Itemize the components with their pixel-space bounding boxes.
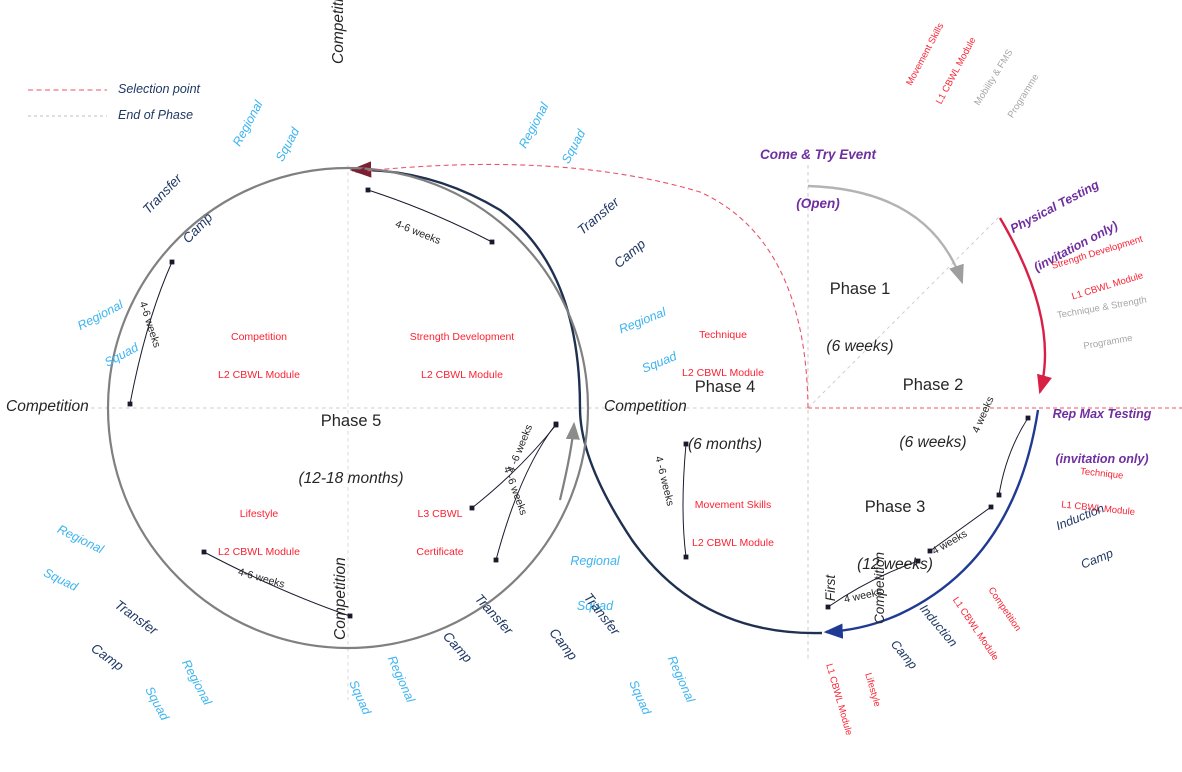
prog-tech-line2: Programme [1038, 325, 1178, 361]
tc-top-l2: Camp [593, 221, 668, 288]
squad-l-l2: Squad [84, 331, 160, 381]
p3-life-line1: Lifestyle [853, 640, 892, 739]
competition-phase4: Competition [604, 398, 687, 417]
squad-b3-l2: Squad [616, 659, 662, 736]
competition-top: Competition [330, 0, 349, 64]
phase-5-name: Phase 5 [256, 411, 446, 431]
entry-come-and-try-event: Come & Try Event (Open) [738, 114, 898, 246]
p5-str-line2: L2 CBWL Module [372, 369, 552, 382]
phase-3-name: Phase 3 [830, 497, 960, 517]
phase5-arrow-head [560, 424, 574, 500]
p5-comp-line2: L2 CBWL Module [194, 369, 324, 382]
squad-bl-l1: Regional [42, 515, 119, 563]
squad-tl-l2: Squad [263, 107, 313, 183]
tc-bl-l2: Camp [68, 627, 146, 690]
first-comp-l1: First [823, 538, 839, 638]
come-and-try-line1: Come & Try Event [738, 147, 898, 163]
first-comp-l2: Competition [872, 538, 888, 638]
induction-line2: Camp [1055, 536, 1140, 582]
rep-max-line1: Rep Max Testing [1022, 407, 1182, 422]
phase-4-duration: (6 months) [660, 436, 790, 455]
module-p5-lifestyle: Lifestyle L2 CBWL Module [194, 482, 324, 584]
p5-l3-line1: L3 CBWL [390, 508, 490, 521]
legend-label-selection-point: Selection point [118, 82, 200, 97]
p5-comp-line1: Competition [194, 331, 324, 344]
tc-bc2-l2: Camp [530, 607, 595, 683]
p3-life-line2: L1 CBWL Module [819, 650, 858, 749]
p5-l3-line2: Certificate [390, 546, 490, 559]
tc-tl-l1: Transfer [128, 158, 198, 230]
p5-life-line1: Lifestyle [194, 508, 324, 521]
tc-bl-l1: Transfer [97, 587, 175, 650]
squad-b1-l1: Regional [172, 644, 222, 720]
legend-label-end-of-phase: End of Phase [118, 108, 193, 123]
squad-top-l1: Regional [509, 87, 559, 163]
tc-bc2-l1: Transfer [569, 576, 634, 652]
squad-tl-l1: Regional [223, 85, 273, 161]
competition-bottom: Competition [332, 557, 351, 640]
squad-b3-l1: Regional [658, 640, 704, 717]
come-and-try-line2: (Open) [738, 196, 898, 212]
p5-life-line2: L2 CBWL Module [194, 546, 324, 559]
squad-bl-l2: Squad [22, 557, 99, 605]
tc-tl-l2: Camp [163, 193, 233, 265]
tc-top-l1: Transfer [561, 183, 636, 250]
pathway-diagram: Selection point End of Phase Phase 1 (6 … [0, 0, 1182, 772]
first-competition: First Competition [790, 538, 922, 638]
p5-str-line1: Strength Development [372, 331, 552, 344]
phase-1-name: Phase 1 [795, 279, 925, 299]
squad-p4-l1: Regional [603, 299, 681, 342]
prog-tech-line1: Technique & Strength [1032, 290, 1172, 326]
squad-l-l1: Regional [62, 290, 138, 340]
module-p5-strength-development: Strength Development L2 CBWL Module [372, 305, 552, 407]
module-p5-l3-certificate: L3 CBWL Certificate [390, 482, 490, 584]
competition-left: Competition [6, 398, 89, 417]
phase-2-duration: (6 weeks) [868, 434, 998, 453]
phase-2-name: Phase 2 [868, 375, 998, 395]
induction-line1: Induction [1037, 494, 1122, 540]
squad-p4-l2: Squad [621, 341, 699, 384]
squad-b2-l2: Squad [336, 659, 382, 736]
tc-bc1-l2: Camp [423, 611, 491, 684]
module-p5-competition: Competition L2 CBWL Module [194, 305, 324, 407]
